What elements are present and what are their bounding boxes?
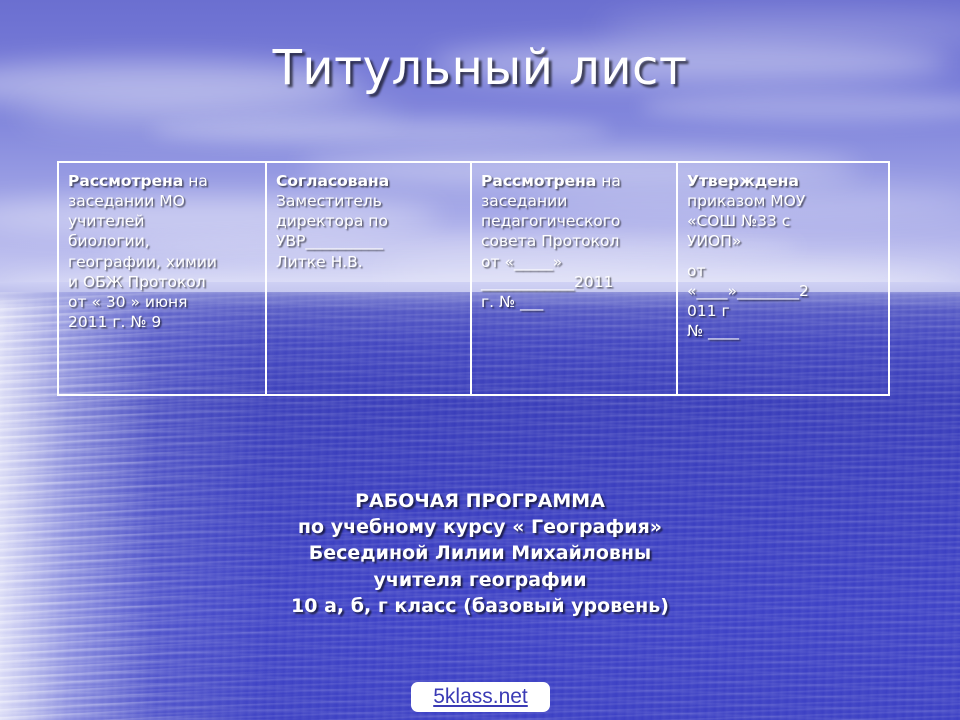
cell-heading: Рассмотрена	[481, 172, 596, 190]
cell-line: № ____	[687, 321, 879, 341]
cell-line: Литке Н.В.	[276, 252, 461, 272]
cell-line: Заместитель	[276, 191, 461, 211]
approval-table: Рассмотрена на заседании МО учителей био…	[57, 161, 890, 396]
cell-line: УИОП»	[687, 231, 879, 251]
cell-line: г. № ___	[481, 292, 667, 312]
program-line-role: учителя географии	[0, 567, 960, 593]
table-cell-reviewed-mo: Рассмотрена на заседании МО учителей био…	[59, 163, 265, 394]
program-line-course: по учебному курсу « География»	[0, 514, 960, 540]
cell-line: учителей	[68, 211, 256, 231]
cell-line: 011 г	[687, 301, 879, 321]
table-cell-agreed: Согласована Заместитель директора по УВР…	[265, 163, 470, 394]
cell-heading: Утверждена	[687, 171, 879, 191]
watermark-badge[interactable]: 5klass.net	[411, 682, 550, 712]
program-line-author: Бесединой Лилии Михайловны	[0, 540, 960, 566]
cell-line: директора по	[276, 211, 461, 231]
table-cell-reviewed-pedsovet: Рассмотрена на заседании педагогического…	[470, 163, 676, 394]
cell-line: «СОШ №33 с	[687, 211, 879, 231]
cell-line: заседании	[481, 191, 667, 211]
cell-line: «____»________2	[687, 281, 879, 301]
table-cell-approved: Утверждена приказом МОУ «СОШ №33 с УИОП»…	[676, 163, 888, 394]
cell-line: заседании МО	[68, 191, 256, 211]
program-block: РАБОЧАЯ ПРОГРАММА по учебному курсу « Ге…	[0, 488, 960, 619]
cell-line: 2011 г. № 9	[68, 312, 256, 332]
cell-line: от	[687, 261, 879, 281]
cell-heading-suffix: на	[183, 172, 208, 190]
cell-line: совета Протокол	[481, 231, 667, 251]
cell-line: от « 30 » июня	[68, 292, 256, 312]
page-title: Титульный лист	[0, 40, 960, 96]
cell-spacer	[687, 252, 879, 261]
program-line-title: РАБОЧАЯ ПРОГРАММА	[0, 488, 960, 514]
cell-line: УВР__________	[276, 231, 461, 251]
cell-heading: Согласована	[276, 171, 461, 191]
cell-heading: Рассмотрена	[68, 172, 183, 190]
cell-line: ____________2011	[481, 272, 667, 292]
cell-heading-suffix: на	[596, 172, 621, 190]
program-line-grade: 10 а, б, г класс (базовый уровень)	[0, 593, 960, 619]
watermark-link[interactable]: 5klass.net	[433, 685, 528, 709]
cell-line: географии, химии	[68, 252, 256, 272]
cell-line: и ОБЖ Протокол	[68, 272, 256, 292]
cell-line: биологии,	[68, 231, 256, 251]
slide-canvas: Титульный лист Рассмотрена на заседании …	[0, 0, 960, 720]
cell-line: приказом МОУ	[687, 191, 879, 211]
cell-line: от «_____»	[481, 252, 667, 272]
cell-line: педагогического	[481, 211, 667, 231]
